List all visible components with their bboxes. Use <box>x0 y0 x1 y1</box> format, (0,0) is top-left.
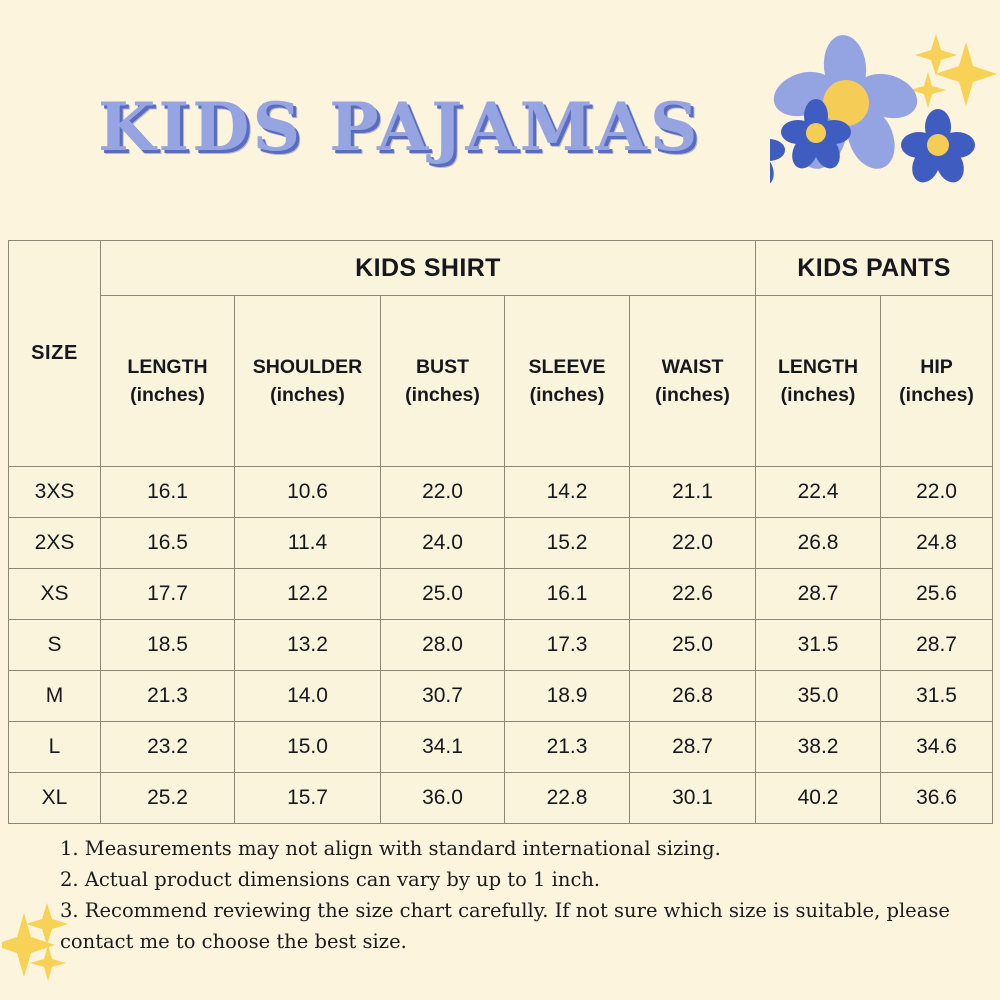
measurement-cell: 40.2 <box>756 773 881 824</box>
column-header-name: BUST <box>416 356 469 378</box>
table-row: 2XS16.511.424.015.222.026.824.8 <box>9 518 993 569</box>
column-header-name: SHOULDER <box>253 356 362 378</box>
group-header-kids-pants: KIDS PANTS <box>756 241 993 296</box>
measurement-cell: 21.3 <box>505 722 630 773</box>
measurement-cell: 16.1 <box>101 467 235 518</box>
column-header-shirt-sleeve: SLEEVE(inches) <box>505 296 630 467</box>
measurement-cell: 28.0 <box>381 620 505 671</box>
measurement-cell: 22.0 <box>381 467 505 518</box>
measurement-cell: 15.0 <box>235 722 381 773</box>
measurement-cell: 22.0 <box>630 518 756 569</box>
measurement-cell: 14.0 <box>235 671 381 722</box>
measurement-cell: 21.3 <box>101 671 235 722</box>
column-header-shirt-bust: BUST(inches) <box>381 296 505 467</box>
measurement-cell: 31.5 <box>756 620 881 671</box>
column-header-name: LENGTH <box>127 356 207 378</box>
table-row: XS17.712.225.016.122.628.725.6 <box>9 569 993 620</box>
measurement-cell: 25.0 <box>630 620 756 671</box>
measurement-cell: 15.7 <box>235 773 381 824</box>
measurement-cell: 18.9 <box>505 671 630 722</box>
measurement-cell: 13.2 <box>235 620 381 671</box>
measurement-cell: 22.8 <box>505 773 630 824</box>
measurement-cell: 21.1 <box>630 467 756 518</box>
column-header-shirt-length: LENGTH(inches) <box>101 296 235 467</box>
measurement-cell: 36.6 <box>881 773 993 824</box>
table-row: L23.215.034.121.328.738.234.6 <box>9 722 993 773</box>
measurement-cell: 34.1 <box>381 722 505 773</box>
measurement-cell: 14.2 <box>505 467 630 518</box>
measurement-cell: 25.0 <box>381 569 505 620</box>
table-row: S18.513.228.017.325.031.528.7 <box>9 620 993 671</box>
measurement-cell: 23.2 <box>101 722 235 773</box>
measurement-cell: 12.2 <box>235 569 381 620</box>
column-header-name: WAIST <box>662 356 724 378</box>
group-header-kids-shirt: KIDS SHIRT <box>101 241 756 296</box>
table-header: SIZE KIDS SHIRT KIDS PANTS LENGTH(inches… <box>9 241 993 467</box>
measurement-cell: 25.6 <box>881 569 993 620</box>
sparkle-decoration-bottom-left <box>2 895 82 990</box>
bottom-sparkle-svg <box>2 895 82 990</box>
measurement-cell: 10.6 <box>235 467 381 518</box>
column-header-unit: (inches) <box>235 381 380 409</box>
row-size-label: M <box>9 671 101 722</box>
measurement-cell: 11.4 <box>235 518 381 569</box>
column-header-shirt-shoulder: SHOULDER(inches) <box>235 296 381 467</box>
measurement-cell: 26.8 <box>756 518 881 569</box>
column-header-unit: (inches) <box>630 381 755 409</box>
size-chart-table-wrapper: SIZE KIDS SHIRT KIDS PANTS LENGTH(inches… <box>8 240 992 824</box>
footer-note: 1. Measurements may not align with stand… <box>60 833 990 864</box>
measurement-cell: 28.7 <box>881 620 993 671</box>
measurement-cell: 22.6 <box>630 569 756 620</box>
table-row: 3XS16.110.622.014.221.122.422.0 <box>9 467 993 518</box>
row-size-label: 3XS <box>9 467 101 518</box>
size-chart-table: SIZE KIDS SHIRT KIDS PANTS LENGTH(inches… <box>8 240 993 824</box>
column-header-unit: (inches) <box>505 381 629 409</box>
measurement-cell: 15.2 <box>505 518 630 569</box>
flower-center <box>823 80 869 126</box>
measurement-cell: 28.7 <box>630 722 756 773</box>
measurement-cell: 25.2 <box>101 773 235 824</box>
table-body: 3XS16.110.622.014.221.122.422.02XS16.511… <box>9 467 993 824</box>
column-header-pants-hip: HIP(inches) <box>881 296 993 467</box>
table-group-header-row: SIZE KIDS SHIRT KIDS PANTS <box>9 241 993 296</box>
measurement-cell: 24.0 <box>381 518 505 569</box>
column-header-name: HIP <box>920 356 953 378</box>
measurement-cell: 31.5 <box>881 671 993 722</box>
measurement-cell: 36.0 <box>381 773 505 824</box>
table-row: M21.314.030.718.926.835.031.5 <box>9 671 993 722</box>
column-header-name: LENGTH <box>778 356 858 378</box>
measurement-cell: 17.7 <box>101 569 235 620</box>
header-area: KIDS PAJAMAS <box>0 0 1000 232</box>
row-size-label: 2XS <box>9 518 101 569</box>
flower-decoration-top-right <box>770 14 1000 214</box>
measurement-cell: 16.1 <box>505 569 630 620</box>
column-header-shirt-waist: WAIST(inches) <box>630 296 756 467</box>
row-size-label: L <box>9 722 101 773</box>
measurement-cell: 17.3 <box>505 620 630 671</box>
column-header-name: SLEEVE <box>529 356 606 378</box>
table-row: XL25.215.736.022.830.140.236.6 <box>9 773 993 824</box>
page-title: KIDS PAJAMAS <box>98 88 701 166</box>
small-blue-flower-right <box>901 109 975 187</box>
measurement-cell: 30.1 <box>630 773 756 824</box>
measurement-cell: 22.0 <box>881 467 993 518</box>
measurement-cell: 24.8 <box>881 518 993 569</box>
measurement-cell: 34.6 <box>881 722 993 773</box>
measurement-cell: 26.8 <box>630 671 756 722</box>
measurement-cell: 18.5 <box>101 620 235 671</box>
table-column-header-row: LENGTH(inches)SHOULDER(inches)BUST(inche… <box>9 296 993 467</box>
row-size-label: XL <box>9 773 101 824</box>
measurement-cell: 35.0 <box>756 671 881 722</box>
column-header-unit: (inches) <box>381 381 504 409</box>
column-header-pants-length: LENGTH(inches) <box>756 296 881 467</box>
column-header-unit: (inches) <box>101 381 234 409</box>
measurement-cell: 38.2 <box>756 722 881 773</box>
row-size-label: XS <box>9 569 101 620</box>
footer-notes: 1. Measurements may not align with stand… <box>60 833 990 957</box>
measurement-cell: 22.4 <box>756 467 881 518</box>
column-header-unit: (inches) <box>881 381 992 409</box>
flower-cluster-svg <box>770 14 1000 214</box>
measurement-cell: 28.7 <box>756 569 881 620</box>
column-header-unit: (inches) <box>756 381 880 409</box>
measurement-cell: 30.7 <box>381 671 505 722</box>
header-size: SIZE <box>9 241 101 467</box>
footer-note: 3. Recommend reviewing the size chart ca… <box>60 895 990 957</box>
row-size-label: S <box>9 620 101 671</box>
footer-note: 2. Actual product dimensions can vary by… <box>60 864 990 895</box>
measurement-cell: 16.5 <box>101 518 235 569</box>
